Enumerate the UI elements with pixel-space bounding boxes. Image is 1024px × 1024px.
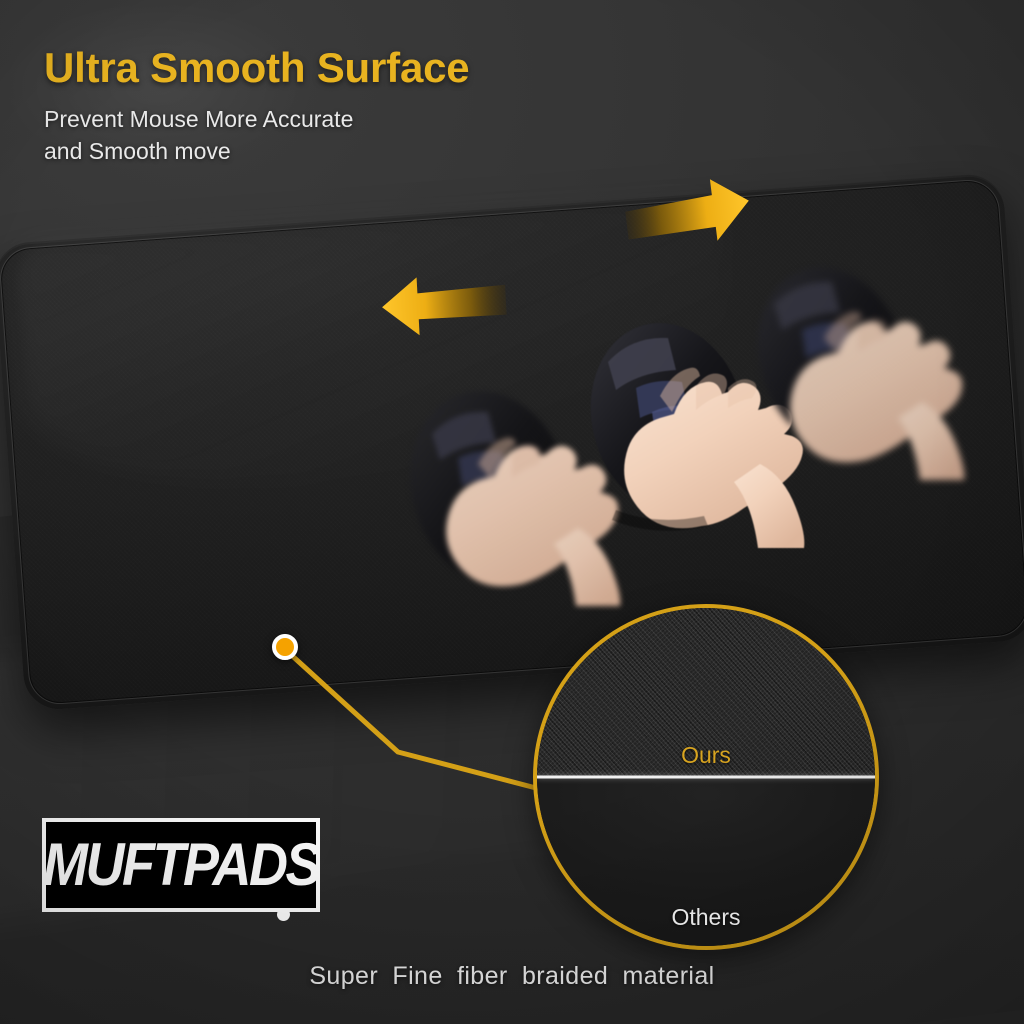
product-marketing-image: Ultra Smooth Surface Prevent Mouse More … [0,0,1024,1024]
image-vignette [0,0,1024,1024]
